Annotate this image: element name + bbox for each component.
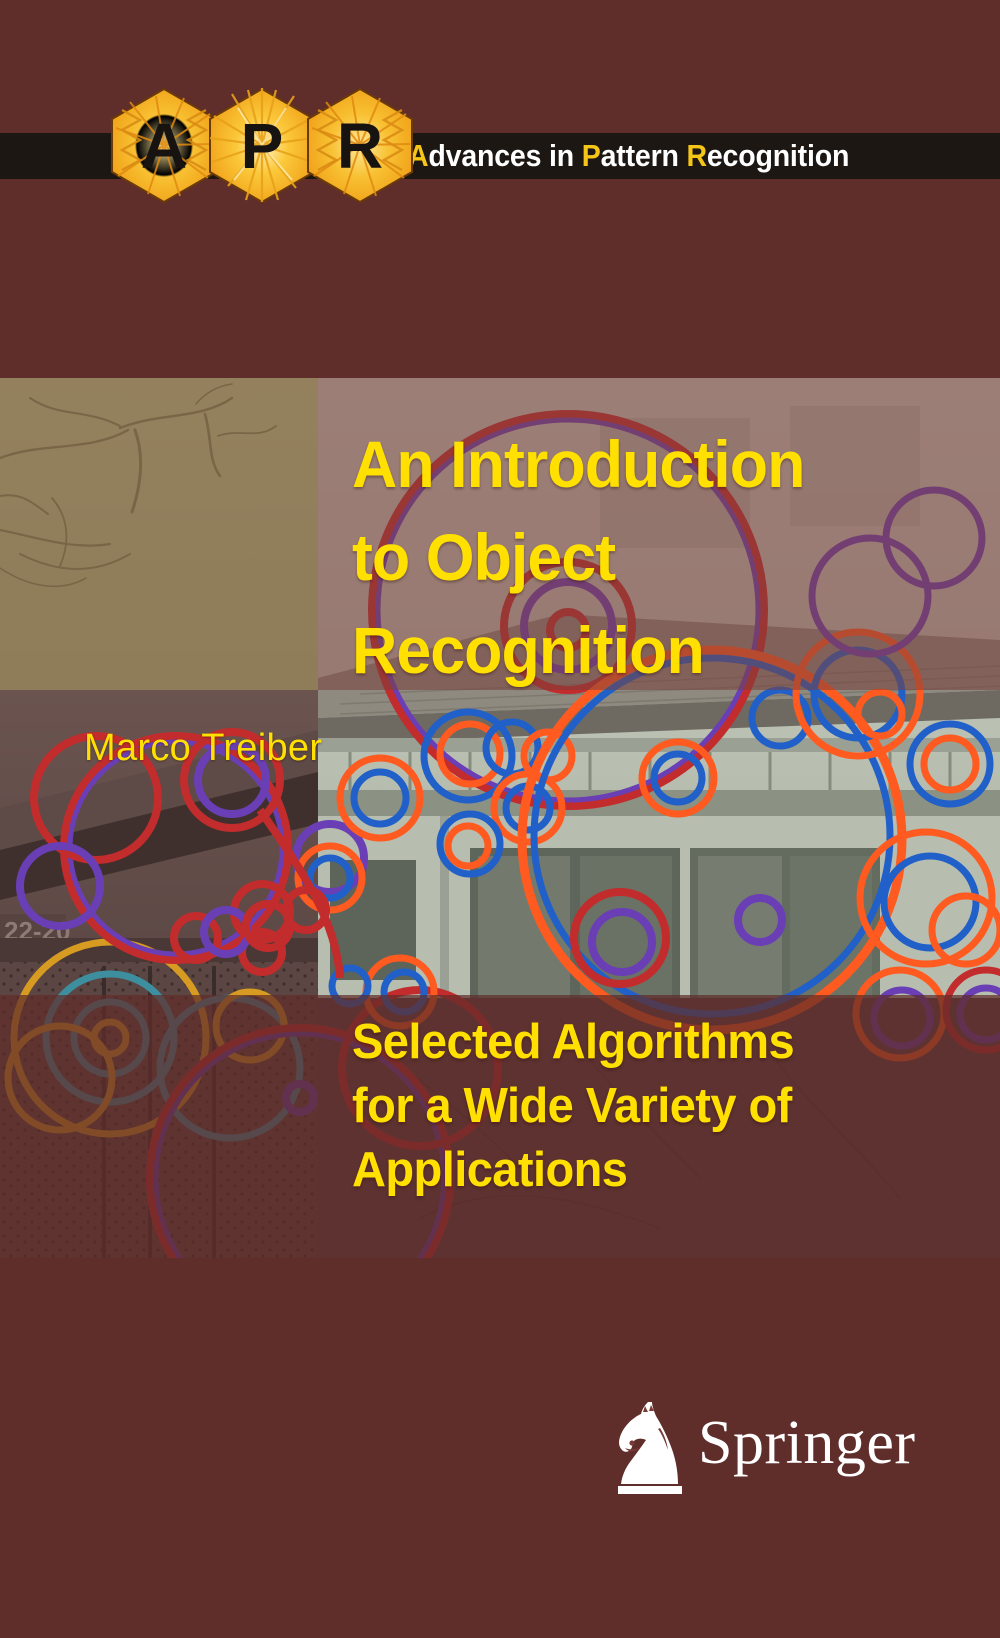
publisher-logo: Springer bbox=[612, 1398, 882, 1508]
hexagon-letter-p: P bbox=[208, 88, 316, 203]
title-line-1: An Introduction bbox=[352, 418, 941, 511]
hexagon-badge-p: P bbox=[208, 88, 316, 203]
hexagon-badge-r: R bbox=[306, 88, 414, 203]
series-word-pattern: attern bbox=[601, 138, 687, 173]
title-line-3: Recognition bbox=[352, 604, 941, 697]
hexagon-letter-a: A bbox=[110, 88, 218, 203]
subtitle-line-3: Applications bbox=[352, 1138, 928, 1202]
knight-chess-piece-icon bbox=[612, 1398, 690, 1498]
book-subtitle: Selected Algorithms for a Wide Variety o… bbox=[352, 1010, 952, 1202]
publisher-name: Springer bbox=[698, 1412, 916, 1474]
series-word-recognition: ecognition bbox=[707, 138, 849, 173]
series-cap-r: R bbox=[686, 138, 706, 173]
book-author: Marco Treiber bbox=[84, 727, 322, 770]
subtitle-line-1: Selected Algorithms bbox=[352, 1010, 928, 1074]
title-line-2: to Object bbox=[352, 511, 941, 604]
series-title: Advances in Pattern Recognition bbox=[408, 131, 849, 181]
series-word-advances: dvances in bbox=[428, 138, 581, 173]
book-title: An Introduction to Object Recognition bbox=[352, 418, 972, 697]
subtitle-line-2: for a Wide Variety of bbox=[352, 1074, 928, 1138]
book-cover: 22-20 bbox=[0, 0, 1000, 1638]
series-cap-p: P bbox=[582, 138, 601, 173]
apr-hexagon-logo: A P bbox=[110, 88, 400, 203]
hexagon-letter-r: R bbox=[306, 88, 414, 203]
hexagon-badge-a: A bbox=[110, 88, 218, 203]
